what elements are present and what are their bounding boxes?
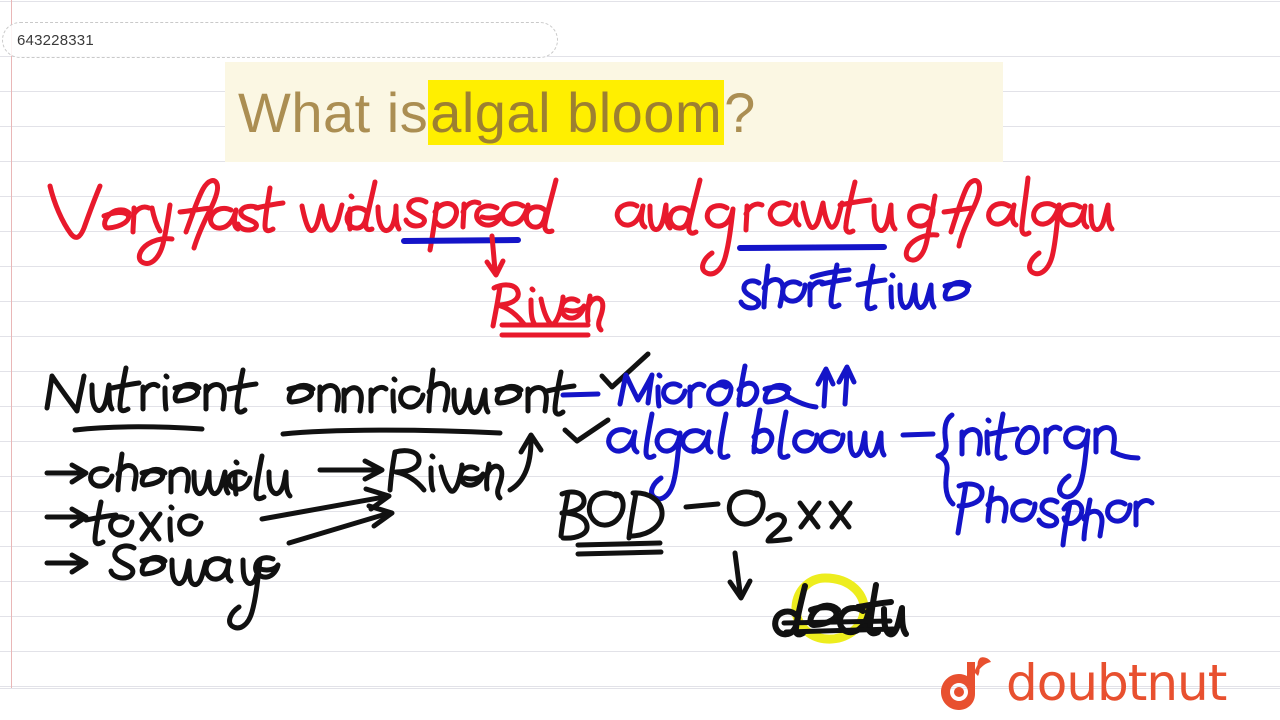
- doubtnut-d-logo-icon: [936, 654, 996, 712]
- doubtnut-wordmark: doubtnut: [1006, 654, 1226, 712]
- notebook-page: 643228331 What is algal bloom?: [0, 0, 1280, 720]
- question-id-value: 643228331: [17, 32, 94, 49]
- doubtnut-logo: doubtnut: [936, 652, 1226, 714]
- title-highlighted-term: algal bloom: [428, 80, 724, 145]
- title-suffix: ?: [724, 80, 756, 145]
- question-id-field[interactable]: 643228331: [2, 22, 558, 58]
- title-prefix: What is: [238, 80, 428, 145]
- page-title: What is algal bloom?: [238, 66, 1028, 158]
- paper-margin-line: [11, 0, 12, 688]
